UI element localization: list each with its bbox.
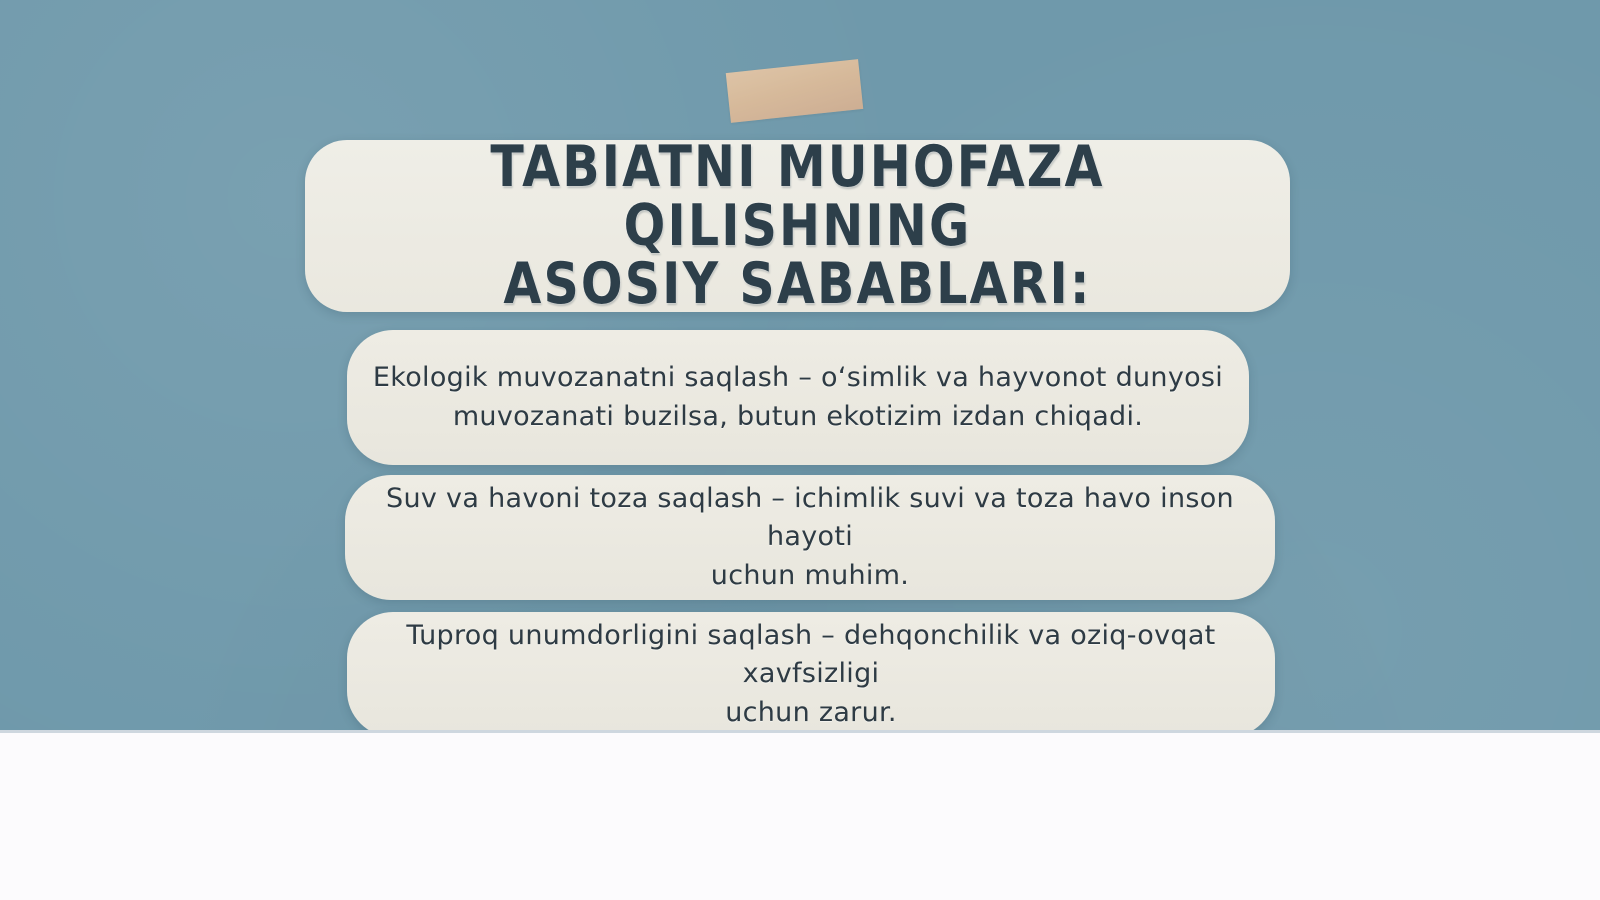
reason-card-3: Tuproq unumdorligini saqlash – dehqonchi… [347,612,1275,737]
reason-text-2: Suv va havoni toza saqlash – ichimlik su… [345,480,1275,595]
reason-card-1: Ekologik muvozanatni saqlash – o‘simlik … [347,330,1249,465]
title-card: TABIATNI MUHOFAZA QILISHNING ASOSIY SABA… [305,140,1290,312]
reason-card-2: Suv va havoni toza saqlash – ichimlik su… [345,475,1275,600]
bottom-paper-band [0,730,1600,900]
reason-text-1: Ekologik muvozanatni saqlash – o‘simlik … [347,359,1249,436]
slide-title: TABIATNI MUHOFAZA QILISHNING ASOSIY SABA… [374,138,1221,314]
presentation-slide: TABIATNI MUHOFAZA QILISHNING ASOSIY SABA… [0,0,1600,900]
reason-text-3: Tuproq unumdorligini saqlash – dehqonchi… [347,617,1275,732]
